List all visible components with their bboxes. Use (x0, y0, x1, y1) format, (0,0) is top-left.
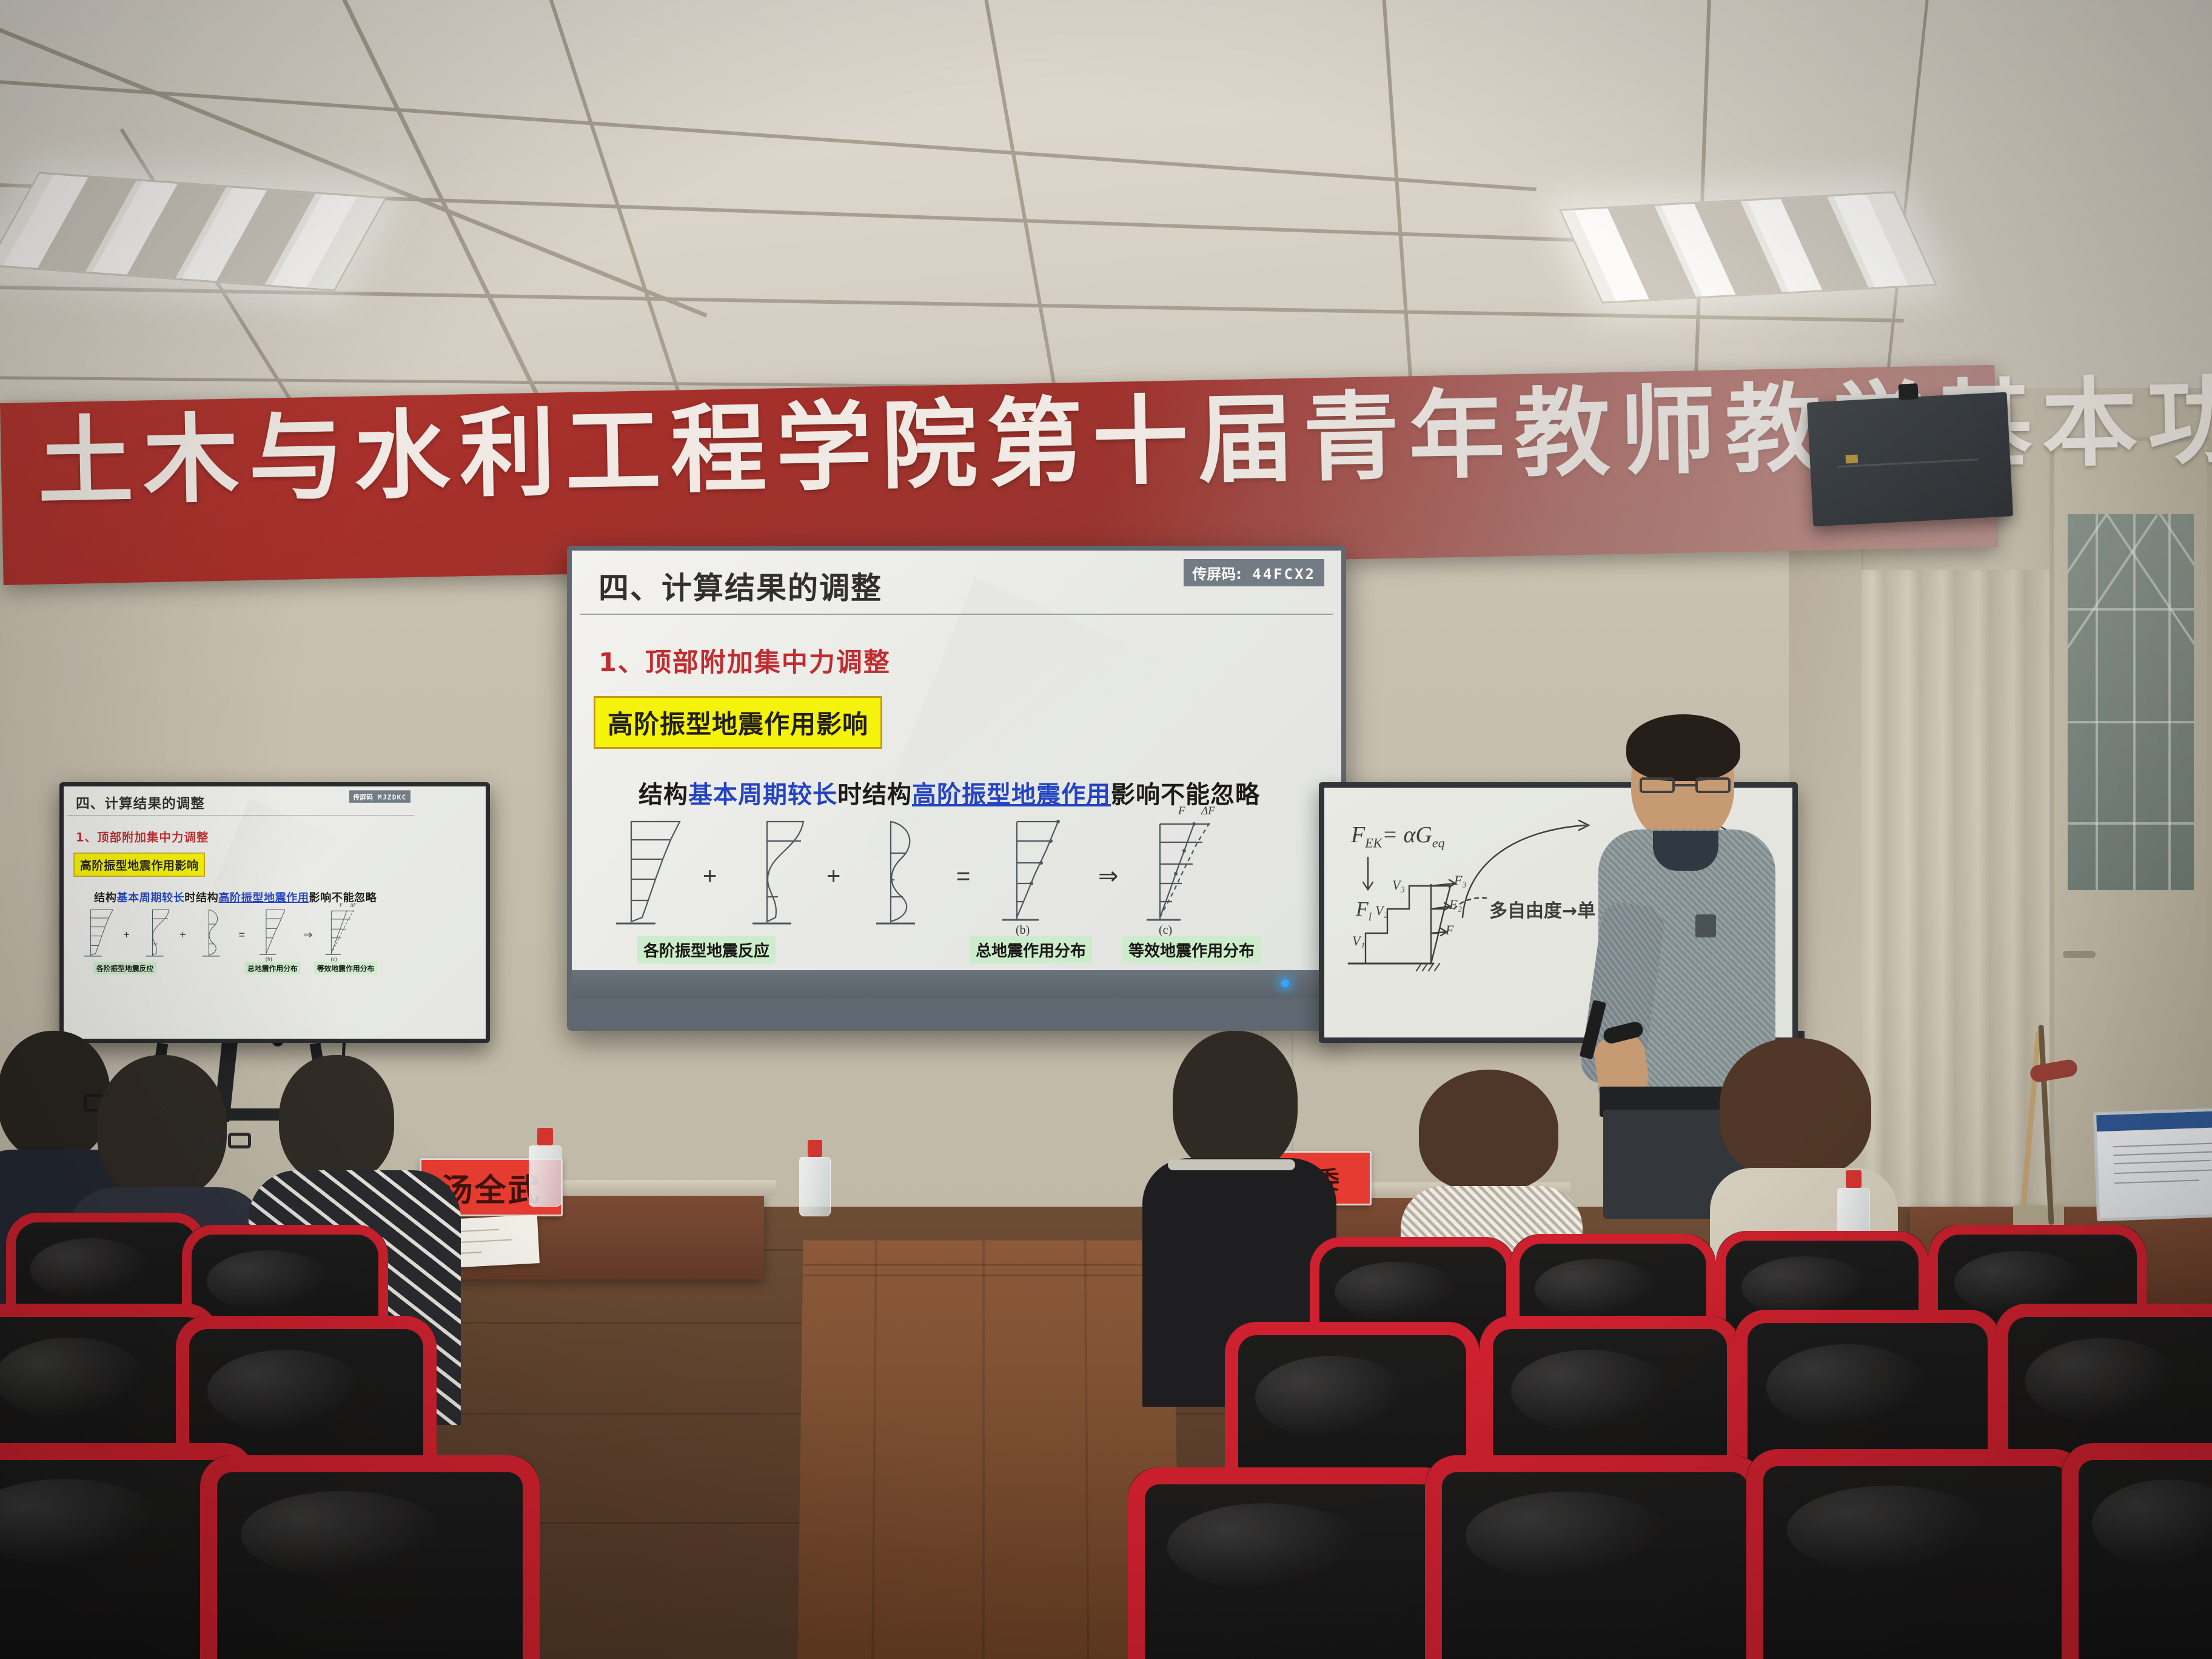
whiteboard-shear-V1: V₁ (1352, 933, 1365, 949)
whiteboard-shear-V3: V₃ (1392, 877, 1405, 893)
left-monitor-slide: 四、计算结果的调整 传屏码 MJZDKC 1、顶部附加集中力调整 高阶振型地震作… (64, 786, 418, 990)
left-screen-code-value: MJZDKC (378, 793, 407, 801)
force-label-delta-F: ΔF (1201, 805, 1215, 818)
left-diagram-row: + + (77, 911, 403, 966)
subfig-label-c: (c) (1159, 923, 1172, 937)
laptop-lid (2093, 1107, 2212, 1222)
left-slide-body: 结构基本周期较长时结构高阶振型地震作用影响不能忽略 (94, 888, 377, 904)
laptop-screen[interactable] (2096, 1110, 2212, 1218)
whiteboard-Fi-label: Fi (1356, 898, 1372, 924)
presentation-slide: 四、计算结果的调整 传屏码: 44FCX2 1、顶部附加集中力调整 高阶振型地震… (572, 551, 1341, 998)
speaker-vent (1838, 458, 1979, 468)
whiteboard-note-left: 多自由度→单 (1489, 896, 1595, 922)
body-part-0: 结构 (638, 781, 688, 809)
seat-r1-c6[interactable] (2062, 1443, 2212, 1659)
modal-shape-3 (858, 816, 937, 928)
door-glass-panel (2068, 514, 2194, 890)
whiteboard-force-F1: F (1446, 922, 1453, 938)
main-display-surface[interactable]: 四、计算结果的调整 传屏码: 44FCX2 1、顶部附加集中力调整 高阶振型地震… (572, 551, 1341, 998)
water-bottle-left (529, 1128, 561, 1207)
slide-title: 四、计算结果的调整 (598, 564, 882, 608)
body-part-3: 高阶振型地震作用 (912, 781, 1111, 809)
force-label-F: F (1178, 805, 1185, 818)
lbody-1: 基本周期较长 (116, 891, 184, 904)
main-interactive-display[interactable]: 四、计算结果的调整 传屏码: 44FCX2 1、顶部附加集中力调整 高阶振型地震… (567, 546, 1346, 1031)
left-monitor-surface[interactable]: 四、计算结果的调整 传屏码 MJZDKC 1、顶部附加集中力调整 高阶振型地震作… (64, 786, 486, 1039)
subfig-label-b: (b) (1016, 923, 1030, 937)
armrest-1 (182, 1528, 218, 1649)
modal-shape-1 (613, 816, 692, 928)
seat-r1-c4[interactable] (1425, 1455, 1765, 1659)
whiteboard-formula: FEK= αGeq (1351, 822, 1445, 851)
equivalent-seismic-distribution: F ΔF (c) (1142, 816, 1233, 928)
ceiling-light-left (0, 172, 387, 291)
slide-highlight-box: 高阶振型地震作用影响 (594, 696, 882, 749)
diagram-caption-total: 总地震作用分布 (970, 936, 1092, 964)
diagram-operator-plus-1: + (703, 863, 717, 890)
diagram-operator-implies: ⇒ (1098, 862, 1119, 890)
center-aisle-floor (797, 1240, 1179, 1659)
wall-speaker (1807, 392, 2013, 527)
laptop-app-ribbon (2096, 1110, 2212, 1132)
wb-formula-rest: = αG (1382, 822, 1432, 848)
seat-r1-c3[interactable] (1128, 1467, 1455, 1659)
body-part-1: 基本周期较长 (688, 781, 837, 809)
screen-share-code-badge: 传屏码: 44FCX2 (1184, 559, 1324, 586)
display-bottom-bezel (572, 970, 1341, 998)
classroom-photo-scene: 土木与水利工程学院第十届青年教师教学基本功大赛 四、计算结果的调整 传屏码: (0, 0, 2212, 1659)
wb-formula-sub: EK (1365, 836, 1382, 851)
left-screen-code-label: 传屏码 (353, 793, 373, 801)
diagram-operator-plus-2: + (826, 863, 840, 890)
whiteboard-force-F2: F₂ (1449, 897, 1462, 913)
wb-formula-F: F (1351, 822, 1365, 848)
armrest-4 (1752, 1534, 1789, 1655)
wb-formula-sub2: eq (1432, 836, 1445, 851)
speaker-mount (1898, 383, 1918, 400)
water-bottle-center (799, 1140, 831, 1216)
body-part-4: 影响不能忽略 (1111, 781, 1260, 809)
seismic-diagram-row: + + (601, 823, 1316, 945)
power-led-indicator (1281, 979, 1289, 987)
whiteboard-shear-V2: V₂ (1375, 903, 1388, 919)
suspended-ceiling (0, 0, 2212, 424)
screen-code-label: 传屏码: (1192, 566, 1242, 583)
left-screen-code-badge: 传屏码 MJZDKC (349, 790, 411, 802)
armrest-3 (1413, 1540, 1449, 1655)
left-slide-section: 1、顶部附加集中力调整 (76, 828, 209, 845)
slide-title-divider (580, 614, 1333, 615)
lbody-2: 时结构 (184, 891, 218, 904)
diagram-caption-modal: 各阶振型地震反应 (637, 936, 776, 964)
armrest-2 (534, 1540, 570, 1655)
body-part-2: 时结构 (837, 781, 912, 809)
screen-code-value: 44FCX2 (1252, 566, 1316, 583)
diagram-caption-equivalent: 等效地震作用分布 (1122, 936, 1261, 964)
whiteboard-force-F3: F₃ (1454, 873, 1467, 888)
speaker-led (1846, 455, 1858, 464)
laptop[interactable] (2093, 1107, 2212, 1222)
modal-shape-2 (736, 816, 814, 928)
seat-r1-c2[interactable] (200, 1455, 540, 1659)
total-seismic-distribution: (b) (995, 816, 1080, 928)
left-slide-divider (67, 815, 414, 816)
door-handle[interactable] (2063, 951, 2096, 958)
ceiling-light-right (1559, 191, 1937, 303)
lbody-0: 结构 (94, 891, 116, 904)
left-slide-highlight: 高阶振型地震作用影响 (73, 853, 205, 877)
diagram-operator-equals: = (956, 863, 970, 890)
left-slide-title: 四、计算结果的调整 (76, 793, 205, 813)
seat-r1-c5[interactable] (1746, 1449, 2086, 1659)
banner-title: 土木与水利工程学院第十届青年教师教学基本功大赛 (36, 377, 1966, 514)
slide-body-line: 结构基本周期较长时结构高阶振型地震作用影响不能忽略 (638, 775, 1260, 810)
lbody-3: 高阶振型地震作用 (218, 891, 309, 904)
slide-section-heading: 1、顶部附加集中力调整 (598, 642, 891, 679)
left-monitor-display[interactable]: 四、计算结果的调整 传屏码 MJZDKC 1、顶部附加集中力调整 高阶振型地震作… (59, 782, 490, 1043)
